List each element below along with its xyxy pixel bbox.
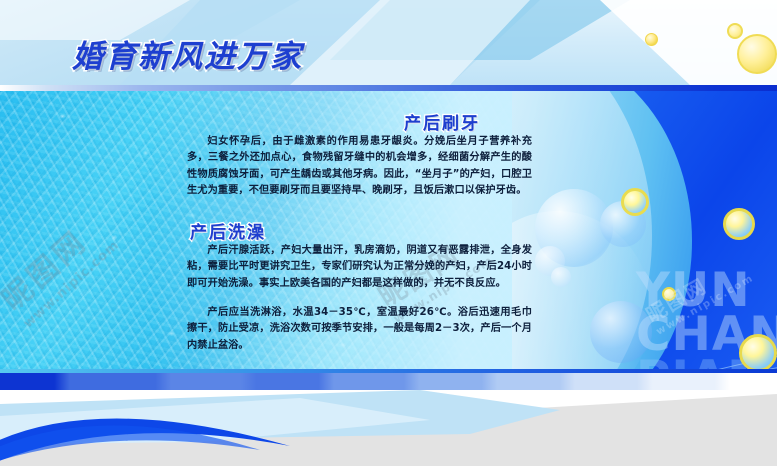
content-panel: YUN CHAN PIAN 孕产篇 昵图网 www.nipic.com 昵图网 …: [0, 91, 777, 373]
banner-bubble-large-icon: [737, 34, 777, 74]
article-paragraph-1: 妇女怀孕后，由于雌激素的作用易患牙龈炎。分娩后坐月子营养补充多，三餐之外还加点心…: [187, 134, 532, 200]
swoosh-svg: [0, 390, 380, 466]
article-paragraph-2: 产后汗腺活跃，产妇大量出汗，乳房滴奶，阴道又有恶露排泄，全身发粘，需要比平时更讲…: [187, 243, 532, 292]
article-heading-postpartum-brushing: 产后刷牙: [404, 109, 480, 134]
bottom-decor: [0, 390, 777, 466]
article-paragraph-3: 产后应当洗淋浴，水温34－35℃，室温最好26℃。浴后迅速用毛巾擦干，防止受凉，…: [187, 305, 532, 354]
yellow-bubble-3-icon: [739, 334, 777, 372]
article-heading-postpartum-bathing: 产后洗澡: [190, 218, 266, 243]
banner-title: 婚育新风进万家: [72, 31, 303, 76]
banner-bubble-small-icon: [645, 33, 658, 46]
yellow-bubble-1-icon: [621, 188, 649, 216]
top-banner: 婚育新风进万家: [0, 0, 777, 85]
bottom-gradient-strip: [0, 373, 777, 390]
banner-bubble-medium-icon: [727, 23, 743, 39]
yellow-bubble-5-icon: [662, 287, 676, 301]
banner-title-text: 婚育新风进万家: [72, 39, 303, 75]
pale-bubble-5-icon: [551, 267, 571, 287]
bottom-swoosh: [0, 390, 380, 466]
yellow-bubble-2-icon: [723, 208, 755, 240]
poster-canvas: 婚育新风进万家: [0, 0, 777, 466]
